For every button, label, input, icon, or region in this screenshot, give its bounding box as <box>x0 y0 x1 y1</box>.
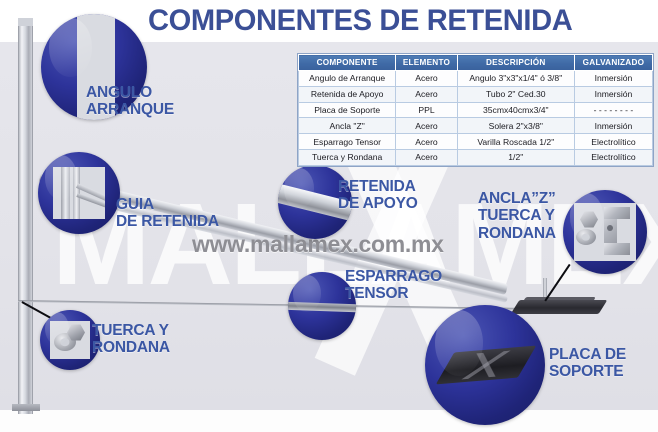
callout-label-guia-retenida: GUIA DE RETENIDA <box>116 196 219 231</box>
callout-circle-placa-soporte[interactable] <box>425 305 545 425</box>
table-row: Placa de Soporte PPL 35cmx40cmx3/4" - - … <box>299 102 653 118</box>
cell-elemento: Acero <box>396 134 457 150</box>
table-header-elemento: ELEMENTO <box>396 55 457 71</box>
callout-label-tuerca-rondana: TUERCA Y RONDANA <box>92 322 170 357</box>
post-cap <box>18 18 33 26</box>
callout-label-angulo-arranque: ANGULO ARRANQUE <box>86 84 174 119</box>
cell-componente: Ancla "Z" <box>299 118 396 134</box>
cell-galvanizado: Inmersión <box>574 118 652 134</box>
cell-descripcion: Solera 2"x3/8" <box>457 118 574 134</box>
callout-label-esparrago-tensor: ESPARRAGO TENSOR <box>345 268 442 303</box>
cell-descripcion: Angulo 3"x3"x1/4" ó 3/8" <box>457 71 574 87</box>
cell-componente: Retenida de Apoyo <box>299 86 396 102</box>
callout-circle-ancla-z[interactable] <box>563 190 647 274</box>
cell-galvanizado: Electrolítico <box>574 134 652 150</box>
cell-componente: Tuerca y Rondana <box>299 149 396 165</box>
cell-componente: Angulo de Arranque <box>299 71 396 87</box>
cell-elemento: Acero <box>396 149 457 165</box>
table-row: Ancla "Z" Acero Solera 2"x3/8" Inmersión <box>299 118 653 134</box>
cell-componente: Placa de Soporte <box>299 102 396 118</box>
table-header-galvanizado: GALVANIZADO <box>574 55 652 71</box>
diagram-canvas: MALLAMEX S.A. www.mallamex.com.mx COMPON… <box>0 0 658 432</box>
table-row: Esparrago Tensor Acero Varilla Roscada 1… <box>299 134 653 150</box>
cell-elemento: PPL <box>396 102 457 118</box>
cell-descripcion: Tubo 2" Ced.30 <box>457 86 574 102</box>
callout-label-ancla-z: ANCLA”Z” TUERCA Y RONDANA <box>478 190 556 242</box>
table-header-descripcion: DESCRIPCIÓN <box>457 55 574 71</box>
post-foot <box>12 404 40 411</box>
cell-descripcion: 1/2" <box>457 149 574 165</box>
cell-galvanizado: - - - - - - - - <box>574 102 652 118</box>
table-row: Angulo de Arranque Acero Angulo 3"x3"x1/… <box>299 71 653 87</box>
components-table: COMPONENTE ELEMENTO DESCRIPCIÓN GALVANIZ… <box>297 53 654 167</box>
vertical-post <box>18 18 33 414</box>
cell-elemento: Acero <box>396 86 457 102</box>
callout-circle-guia-retenida[interactable] <box>38 152 120 234</box>
cell-elemento: Acero <box>396 71 457 87</box>
cell-galvanizado: Inmersión <box>574 86 652 102</box>
callout-circle-tuerca-rondana[interactable] <box>40 310 100 370</box>
table-row: Tuerca y Rondana Acero 1/2" Electrolític… <box>299 149 653 165</box>
page-title: COMPONENTES DE RETENIDA <box>148 4 572 38</box>
table-header-row: COMPONENTE ELEMENTO DESCRIPCIÓN GALVANIZ… <box>299 55 653 71</box>
cell-galvanizado: Inmersión <box>574 71 652 87</box>
cell-elemento: Acero <box>396 118 457 134</box>
table-row: Retenida de Apoyo Acero Tubo 2" Ced.30 I… <box>299 86 653 102</box>
cell-galvanizado: Electrolítico <box>574 149 652 165</box>
bottom-strip <box>0 410 658 432</box>
cell-descripcion: 35cmx40cmx3/4" <box>457 102 574 118</box>
cell-descripcion: Varilla Roscada 1/2" <box>457 134 574 150</box>
callout-label-placa-soporte: PLACA DE SOPORTE <box>549 346 626 381</box>
table-header-componente: COMPONENTE <box>299 55 396 71</box>
cell-componente: Esparrago Tensor <box>299 134 396 150</box>
callout-label-retenida-apoyo: RETENIDA DE APOYO <box>338 178 418 213</box>
